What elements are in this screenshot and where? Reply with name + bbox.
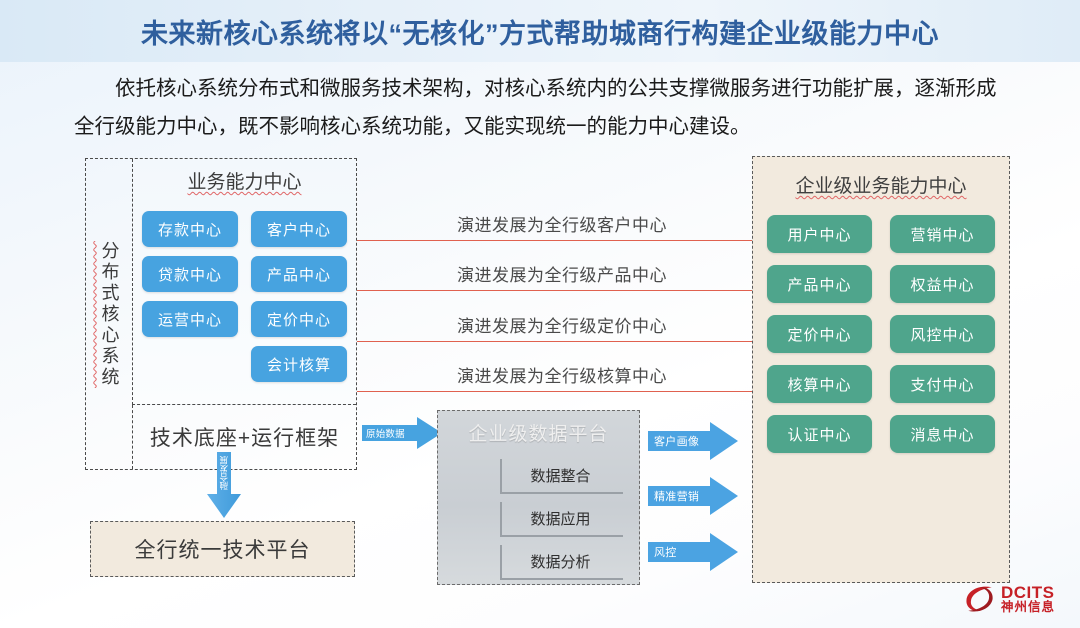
data-platform-title: 企业级数据平台 <box>438 419 639 446</box>
evolution-label-customer: 演进发展为全行级客户中心 <box>357 211 767 236</box>
chip-operation-center[interactable]: 运营中心 <box>142 301 238 337</box>
core-system-label-text: 分布式核心系统 <box>100 241 119 388</box>
chip-loan-center[interactable]: 贷款中心 <box>142 256 238 292</box>
chip-pricing-center[interactable]: 定价中心 <box>767 315 872 353</box>
chip-product-center[interactable]: 产品中心 <box>251 256 347 292</box>
chip-authentication-center[interactable]: 认证中心 <box>767 415 872 453</box>
chip-user-center[interactable]: 用户中心 <box>767 215 872 253</box>
logo-text-block: DCITS 神州信息 <box>1001 584 1055 615</box>
chip-deposit-center[interactable]: 存款中心 <box>142 211 238 247</box>
output-arrow-customer-profile: 客户画像 <box>648 422 738 460</box>
business-capability-center-panel: 业务能力中心 存款中心 客户中心 贷款中心 产品中心 运营中心 定价中心 会计核… <box>132 159 356 405</box>
chip-product-center[interactable]: 产品中心 <box>767 265 872 303</box>
evolution-line <box>357 290 767 291</box>
dcits-swirl-icon <box>962 581 998 617</box>
chip-risk-control-center[interactable]: 风控中心 <box>890 315 995 353</box>
merge-development-arrow: 融合发展 <box>206 452 242 520</box>
page-title: 未来新核心系统将以“无核化”方式帮助城商行构建企业级能力中心 <box>141 12 939 51</box>
title-band: 未来新核心系统将以“无核化”方式帮助城商行构建企业级能力中心 <box>0 0 1080 62</box>
company-logo: DCITS 神州信息 <box>962 578 1074 620</box>
output-arrow-precision-marketing: 精准营销 <box>648 477 738 515</box>
output-label-risk-control: 风控 <box>654 544 677 560</box>
raw-data-label: 原始数据 <box>366 426 405 440</box>
business-capability-chip-grid: 存款中心 客户中心 贷款中心 产品中心 运营中心 定价中心 会计核算 <box>142 211 347 382</box>
enterprise-center-title: 企业级业务能力中心 <box>753 171 1009 198</box>
distributed-core-system-panel: 分布式核心系统 业务能力中心 存款中心 客户中心 贷款中心 产品中心 运营中心 … <box>85 158 357 470</box>
enterprise-data-platform-panel: 企业级数据平台 数据整合 数据应用 数据分析 <box>437 410 640 585</box>
data-platform-item-application[interactable]: 数据应用 <box>500 502 623 537</box>
evolution-label-accounting: 演进发展为全行级核算中心 <box>357 362 767 387</box>
chip-accounting[interactable]: 会计核算 <box>251 346 347 382</box>
chip-accounting-center[interactable]: 核算中心 <box>767 365 872 403</box>
logo-en-text: DCITS <box>1001 584 1055 602</box>
evolution-label-pricing: 演进发展为全行级定价中心 <box>357 312 767 337</box>
raw-data-input-arrow: 原始数据 <box>362 417 442 449</box>
core-system-vertical-label: 分布式核心系统 <box>86 159 132 469</box>
chip-marketing-center[interactable]: 营销中心 <box>890 215 995 253</box>
data-platform-item-integration[interactable]: 数据整合 <box>500 459 623 494</box>
technology-base-label: 技术底座+运行框架 <box>150 422 339 452</box>
chip-payment-center[interactable]: 支付中心 <box>890 365 995 403</box>
data-platform-item-list: 数据整合 数据应用 数据分析 <box>500 459 623 588</box>
evolution-line <box>357 240 767 241</box>
chip-pricing-center[interactable]: 定价中心 <box>251 301 347 337</box>
business-capability-center-title: 业务能力中心 <box>133 167 356 194</box>
unified-platform-label: 全行统一技术平台 <box>135 534 311 564</box>
output-label-precision-marketing: 精准营销 <box>654 488 699 504</box>
data-platform-item-analysis[interactable]: 数据分析 <box>500 545 623 580</box>
output-arrow-risk-control: 风控 <box>648 533 738 571</box>
technology-base-panel: 技术底座+运行框架 <box>132 405 356 469</box>
page-subtitle: 依托核心系统分布式和微服务技术架构，对核心系统内的公共支撑微服务进行功能扩展，逐… <box>74 70 1010 146</box>
output-label-customer-profile: 客户画像 <box>654 433 699 449</box>
evolution-label-product: 演进发展为全行级产品中心 <box>357 261 767 286</box>
unified-technology-platform: 全行统一技术平台 <box>90 521 355 577</box>
chip-message-center[interactable]: 消息中心 <box>890 415 995 453</box>
evolution-line <box>357 391 767 392</box>
chip-placeholder <box>142 346 238 382</box>
evolution-line <box>357 341 767 342</box>
enterprise-capability-center-panel: 企业级业务能力中心 用户中心 营销中心 产品中心 权益中心 定价中心 风控中心 … <box>752 156 1010 583</box>
merge-arrow-label: 融合发展 <box>220 456 229 490</box>
logo-cn-text: 神州信息 <box>1001 601 1055 614</box>
chip-customer-center[interactable]: 客户中心 <box>251 211 347 247</box>
enterprise-chip-grid: 用户中心 营销中心 产品中心 权益中心 定价中心 风控中心 核算中心 支付中心 … <box>767 215 995 453</box>
chip-rights-center[interactable]: 权益中心 <box>890 265 995 303</box>
